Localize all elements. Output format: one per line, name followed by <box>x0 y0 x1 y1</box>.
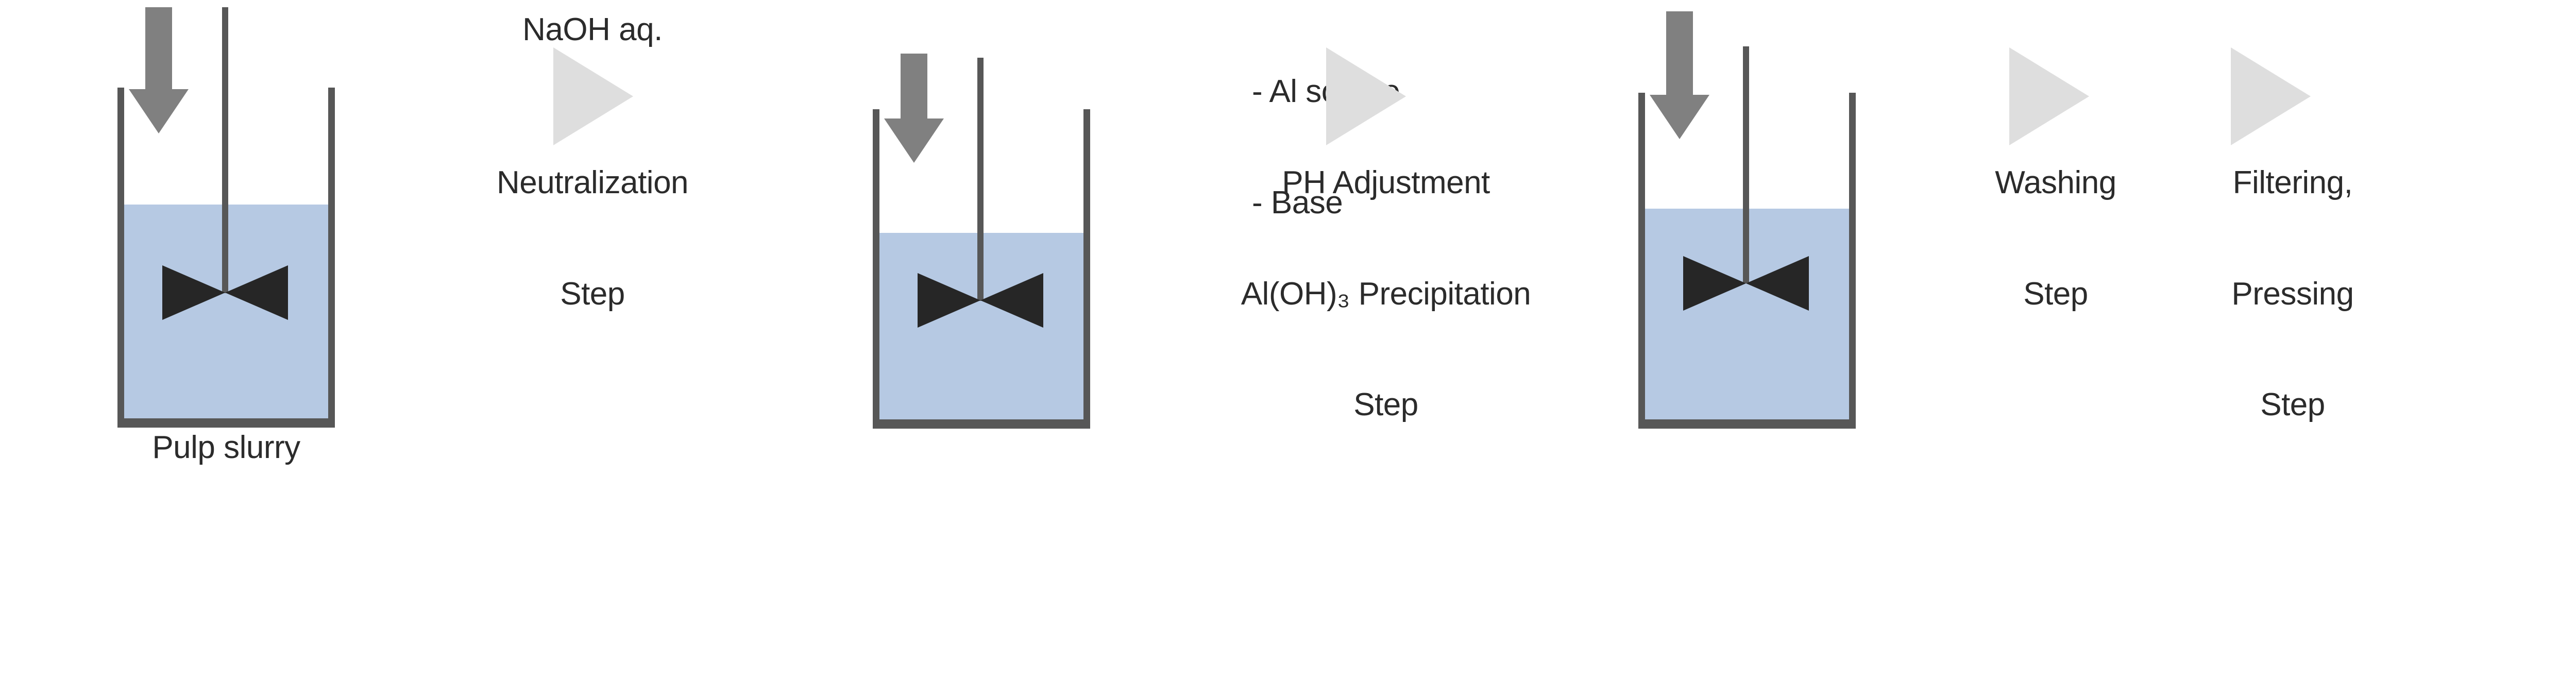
stirred-tank-1 <box>117 88 335 428</box>
impeller-blade-right <box>225 265 288 320</box>
impeller-blade-right <box>980 273 1043 328</box>
step-line: Washing <box>1953 164 2159 201</box>
step-line: Step <box>1953 276 2159 313</box>
feed-arrow-head <box>1650 95 1709 139</box>
step-label-filtering-pressing: Filtering, Pressing Step <box>2184 90 2401 498</box>
vessel-wall-left <box>1638 93 1645 419</box>
vessel-wall-right <box>328 88 335 418</box>
impeller-blade-right <box>1746 256 1809 311</box>
step-line: Filtering, <box>2184 164 2401 201</box>
step-line: Step <box>2184 386 2401 423</box>
stirrer-shaft-1 <box>222 7 228 293</box>
step-label-ph-adjustment: PH Adjustment Al(OH)₃ Precipitation Step <box>1149 90 1623 498</box>
feed-arrow-head <box>129 89 189 133</box>
step-line: PH Adjustment <box>1149 164 1623 201</box>
product-label: Molded body <box>2555 82 2576 120</box>
feed-arrow-stem <box>901 54 927 120</box>
feed-arrow-2 <box>884 54 944 163</box>
product-result-text: Inorganic content: 8 wt% (1.08-fold weig… <box>2473 319 2576 678</box>
process-flow-diagram: Pulp slurry NaOH aq. Neutralization Step… <box>0 0 2576 612</box>
impeller-blade-left <box>918 273 980 328</box>
stirred-tank-3 <box>1638 93 1856 429</box>
step-line: Neutralization <box>469 164 716 201</box>
stirrer-shaft-2 <box>977 58 984 301</box>
stirrer-shaft-3 <box>1743 46 1749 283</box>
step-line: Al(OH)₃ Precipitation <box>1149 276 1623 313</box>
feed-arrow-stem <box>1666 11 1693 95</box>
reagent-label-naoh: NaOH aq. <box>484 11 701 48</box>
vessel-base <box>873 419 1090 429</box>
step-line: Step <box>469 276 716 313</box>
vessel-wall-left <box>117 88 124 418</box>
step-line: Step <box>1149 386 1623 423</box>
vessel-wall-right <box>1849 93 1856 419</box>
step-label-washing: Washing Step <box>1953 90 2159 386</box>
inorganic-content-line: Inorganic content: 8 wt% <box>2473 391 2576 499</box>
impeller-blade-left <box>162 265 225 320</box>
feed-arrow-1 <box>129 7 189 133</box>
step-line: Pressing <box>2184 276 2401 313</box>
feed-arrow-3 <box>1650 11 1709 139</box>
vessel-1-caption: Pulp slurry <box>72 429 381 466</box>
impeller-blade-left <box>1683 256 1746 311</box>
feed-arrow-head <box>884 118 944 163</box>
step-label-neutralization: Neutralization Step <box>469 90 716 386</box>
vessel-base <box>117 418 335 428</box>
vessel-wall-right <box>1083 109 1090 419</box>
vessel-wall-left <box>873 109 879 419</box>
vessel-base <box>1638 419 1856 429</box>
feed-arrow-stem <box>145 7 172 90</box>
weight-increase-note: (1.08-fold weight increase) <box>2473 570 2576 606</box>
